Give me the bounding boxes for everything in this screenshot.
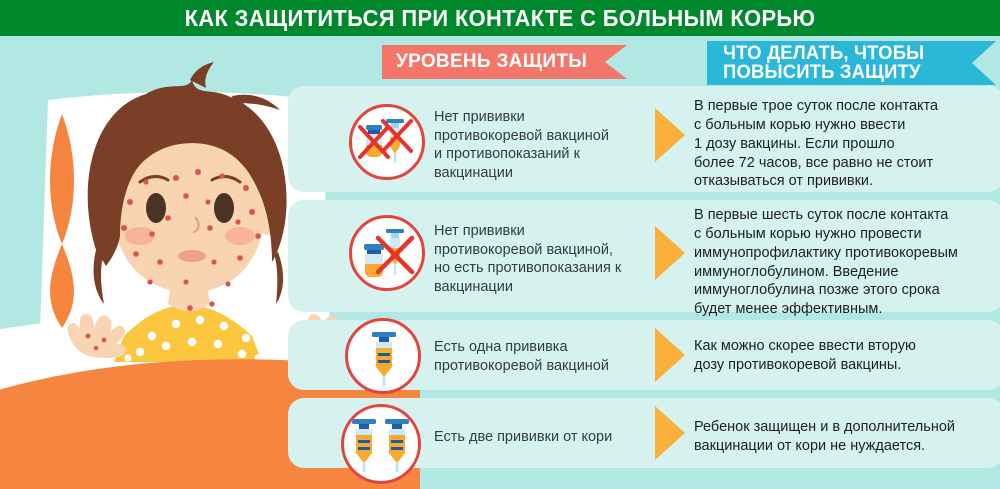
banner-protection-level: УРОВЕНЬ ЗАЩИТЫ	[382, 45, 627, 79]
banner-protection-level-label: УРОВЕНЬ ЗАЩИТЫ	[396, 52, 587, 71]
row-3-action-text: Как можно скорее ввести вторую дозу прот…	[694, 337, 1000, 375]
row-3-level-label: Есть одна прививка противокоревой вакцин…	[434, 338, 644, 375]
syringe-right	[385, 419, 409, 472]
page-header: КАК ЗАЩИТИТЬСЯ ПРИ КОНТАКТЕ С БОЛЬНЫМ КО…	[0, 0, 1000, 36]
banner-what-to-do: ЧТО ДЕЛАТЬ, ЧТОБЫ ПОВЫСИТЬ ЗАЩИТУ	[707, 41, 996, 85]
vaccine-bottle-and-syringe-syringe-crossed-out-icon	[349, 215, 425, 291]
vaccine-bottle-and-syringe-crossed-out-icon	[349, 104, 425, 180]
syringe-left	[352, 419, 376, 472]
syringe	[372, 332, 396, 386]
page-title: КАК ЗАЩИТИТЬСЯ ПРИ КОНТАКТЕ С БОЛЬНЫМ КО…	[185, 5, 816, 32]
banner-what-to-do-line2: ПОВЫСИТЬ ЗАЩИТУ	[723, 63, 921, 82]
infographic-root: КАК ЗАЩИТИТЬСЯ ПРИ КОНТАКТЕ С БОЛЬНЫМ КО…	[0, 0, 1000, 489]
row-2-action-text: В первые шесть суток после контакта с бо…	[694, 206, 1000, 319]
banner-what-to-do-line1: ЧТО ДЕЛАТЬ, ЧТОБЫ	[723, 44, 924, 63]
row-4-action-text: Ребенок защищен и в дополнительной вакци…	[694, 418, 1000, 456]
row-1-level-label: Нет прививки противокоревой вакциной и п…	[434, 108, 634, 182]
row-1-action-text: В первые трое суток после контакта с бол…	[694, 97, 1000, 191]
double-syringe-icon	[341, 404, 421, 484]
row-4-level-label: Есть две прививки от кори	[434, 428, 654, 447]
single-syringe-icon	[345, 318, 421, 394]
row-2-level-label: Нет прививки противокоревой вакциной, но…	[434, 222, 644, 296]
